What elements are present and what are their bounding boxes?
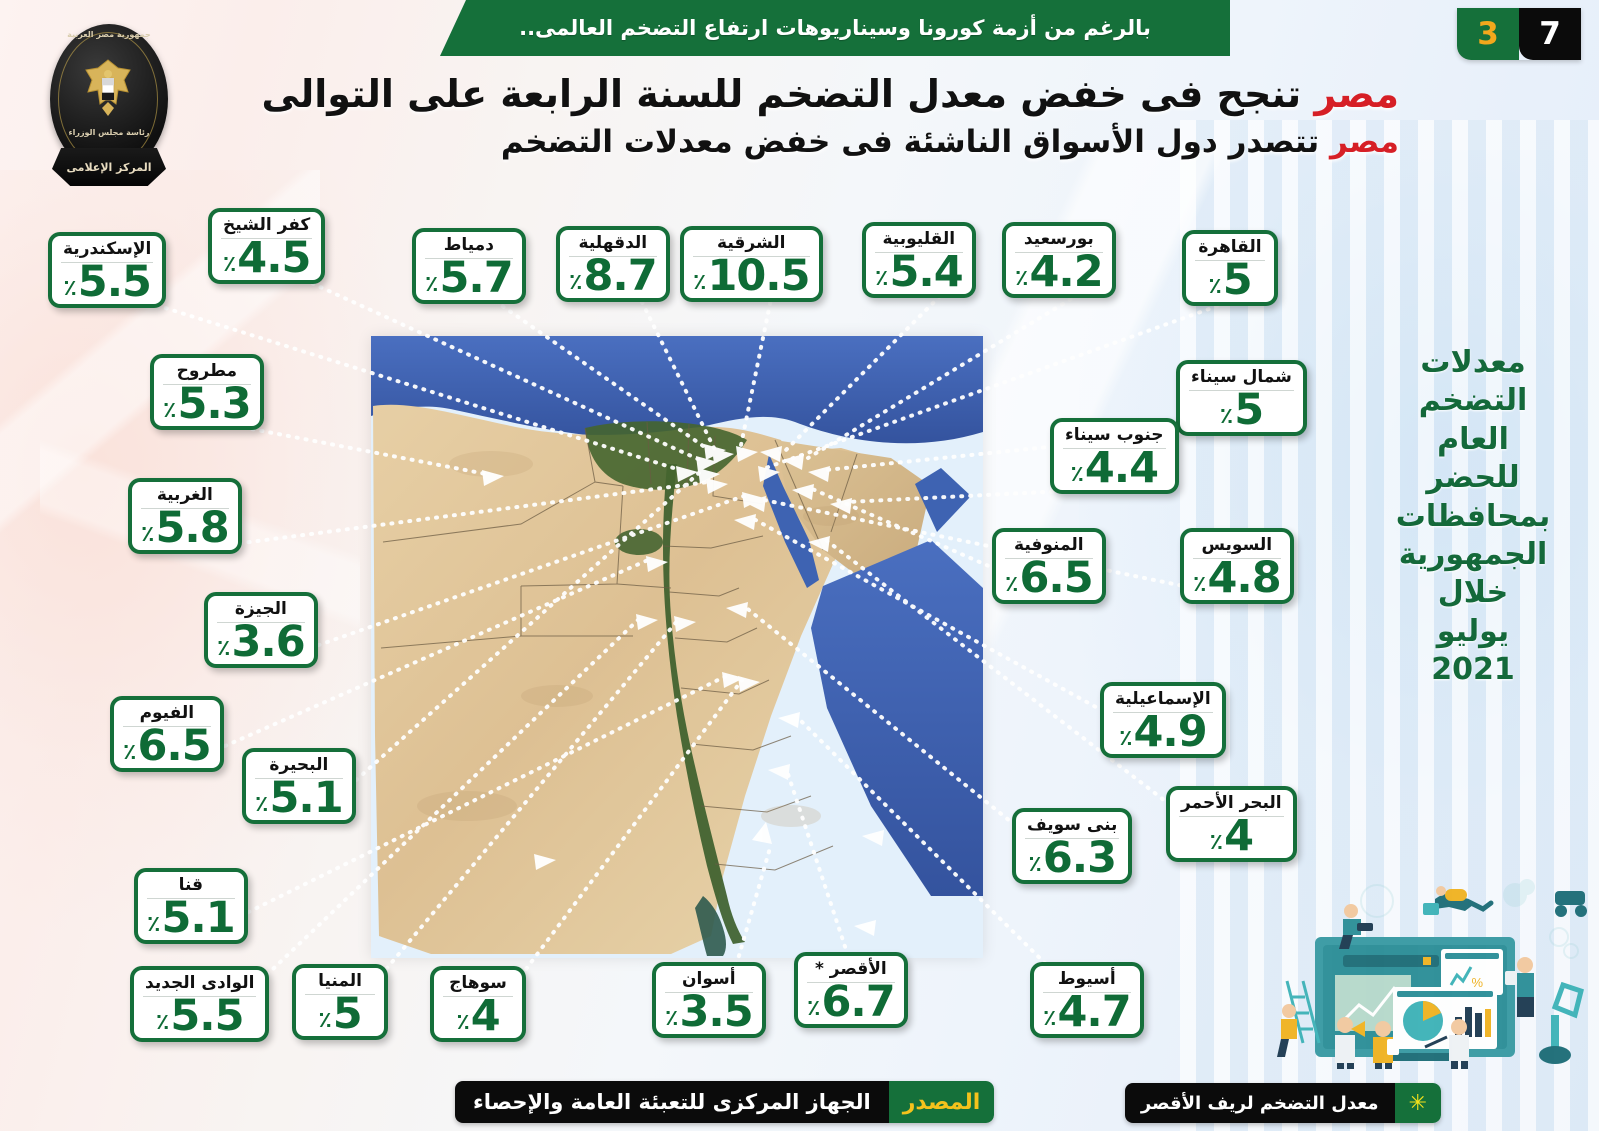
province-value: 4.4٪ bbox=[1070, 449, 1158, 489]
cart-icon bbox=[1555, 891, 1587, 917]
province-card[interactable]: أسوان3.5٪ bbox=[652, 962, 766, 1038]
infographic-root: بالرغم من أزمة كورونا وسيناريوهات ارتفاع… bbox=[0, 0, 1599, 1131]
province-card[interactable]: الجيزة3.6٪ bbox=[204, 592, 318, 668]
province-card-inner: المنيا5٪ bbox=[296, 968, 384, 1036]
percent-sign: ٪ bbox=[1015, 269, 1028, 289]
percent-sign: ٪ bbox=[1119, 729, 1132, 749]
egypt-map-graphic bbox=[371, 336, 983, 958]
sidebar-line: خلال bbox=[1373, 574, 1573, 612]
sidebar-line: معدلات bbox=[1373, 344, 1573, 382]
asterisk-icon: ✳ bbox=[1395, 1083, 1441, 1123]
province-card[interactable]: الإسكندرية5.5٪ bbox=[48, 232, 166, 308]
province-card-inner: الشرقية10.5٪ bbox=[684, 230, 819, 298]
province-card[interactable]: الدقهلية8.7٪ bbox=[556, 226, 670, 302]
province-value-number: 8.7 bbox=[583, 257, 656, 297]
province-card-inner: الفيوم6.5٪ bbox=[114, 700, 220, 768]
province-value: 5٪ bbox=[318, 995, 361, 1035]
province-value: 5.8٪ bbox=[141, 509, 229, 549]
government-logo: جمهورية مصر العربية رئاسة مجلس الوزراء ا… bbox=[30, 16, 190, 186]
percent-sign: ٪ bbox=[693, 273, 706, 293]
percent-sign: ٪ bbox=[425, 275, 438, 295]
sidebar-line: العام bbox=[1373, 421, 1573, 459]
province-card[interactable]: الوادى الجديد5.5٪ bbox=[130, 966, 269, 1042]
province-value-number: 5.7 bbox=[439, 259, 512, 299]
percent-sign: ٪ bbox=[1070, 465, 1083, 485]
percent-sign: ٪ bbox=[163, 401, 176, 421]
sidebar-line: الجمهورية bbox=[1373, 536, 1573, 574]
percent-sign: ٪ bbox=[318, 1011, 331, 1031]
province-card[interactable]: قنا5.1٪ bbox=[134, 868, 248, 944]
province-card[interactable]: شمال سيناء5٪ bbox=[1176, 360, 1307, 436]
province-card-inner: المنوفية6.5٪ bbox=[996, 532, 1102, 600]
province-value-number: 3.5 bbox=[679, 993, 752, 1033]
sidebar-line: للحضر bbox=[1373, 459, 1573, 497]
title-line-two-rest: تتصدر دول الأسواق الناشئة فى خفض معدلات … bbox=[501, 124, 1330, 160]
province-card-inner: الغربية5.8٪ bbox=[132, 482, 238, 550]
province-card-inner: الإسكندرية5.5٪ bbox=[52, 236, 162, 304]
province-card-inner: الجيزة3.6٪ bbox=[208, 596, 314, 664]
province-card[interactable]: الشرقية10.5٪ bbox=[680, 226, 823, 302]
robot-arm-icon bbox=[1539, 985, 1581, 1064]
header-banner-text: بالرغم من أزمة كورونا وسيناريوهات ارتفاع… bbox=[519, 16, 1151, 40]
province-value-number: 4.5 bbox=[237, 239, 310, 279]
province-value: 5.5٪ bbox=[156, 997, 244, 1037]
province-card-inner: القاهرة5٪ bbox=[1186, 234, 1274, 302]
sidebar-line: يوليو bbox=[1373, 613, 1573, 651]
province-value: 5.1٪ bbox=[147, 899, 235, 939]
province-value: 5.7٪ bbox=[425, 259, 513, 299]
province-card[interactable]: بورسعيد4.2٪ bbox=[1002, 222, 1116, 298]
percent-sign: ٪ bbox=[1043, 1009, 1056, 1029]
province-value-number: 4.2 bbox=[1029, 253, 1102, 293]
province-value: 3.6٪ bbox=[217, 623, 305, 663]
province-card-inner: كفر الشيخ4.5٪ bbox=[212, 212, 321, 280]
province-card-inner: قنا5.1٪ bbox=[138, 872, 244, 940]
page-badges: 7 3 bbox=[1457, 8, 1581, 60]
percent-sign: ٪ bbox=[875, 269, 888, 289]
province-value-number: 4.4 bbox=[1085, 449, 1158, 489]
province-card[interactable]: مطروح5.3٪ bbox=[150, 354, 264, 430]
province-value: 6.5٪ bbox=[123, 727, 211, 767]
province-card[interactable]: الإسماعيلية4.9٪ bbox=[1100, 682, 1226, 758]
province-value-number: 4 bbox=[1224, 817, 1253, 857]
province-value-number: 10.5 bbox=[707, 257, 809, 297]
province-value: 5٪ bbox=[1208, 261, 1251, 301]
logo-ribbon-text: المركز الإعلامى bbox=[67, 161, 152, 174]
province-value: 5.4٪ bbox=[875, 253, 963, 293]
province-value: 6.7٪ bbox=[807, 983, 895, 1023]
sidebar-line: 2021 bbox=[1373, 651, 1573, 689]
province-card-inner: جنوب سيناء4.4٪ bbox=[1054, 422, 1175, 490]
province-value-number: 6.7 bbox=[821, 983, 894, 1023]
percent-sign: ٪ bbox=[569, 273, 582, 293]
province-value-number: 6.5 bbox=[1019, 559, 1092, 599]
percent-sign: ٪ bbox=[1220, 407, 1233, 427]
footnote: ✳ معدل التضخم لريف الأقصر bbox=[1125, 1083, 1441, 1123]
province-card-inner: أسوان3.5٪ bbox=[656, 966, 762, 1034]
province-value: 8.7٪ bbox=[569, 257, 657, 297]
province-card-inner: الإسماعيلية4.9٪ bbox=[1104, 686, 1222, 754]
province-card-inner: بنى سويف6.3٪ bbox=[1016, 812, 1128, 880]
province-card[interactable]: أسيوط4.7٪ bbox=[1030, 962, 1144, 1038]
province-card-inner: سوهاج4٪ bbox=[434, 970, 522, 1038]
footnote-text: معدل التضخم لريف الأقصر bbox=[1125, 1083, 1395, 1123]
total-number-badge: 3 bbox=[1457, 8, 1519, 60]
province-card[interactable]: القاهرة5٪ bbox=[1182, 230, 1278, 306]
percent-sign: ٪ bbox=[1210, 833, 1223, 853]
province-card-inner: القليوبية5.4٪ bbox=[866, 226, 972, 294]
province-card-inner: البحيرة5.1٪ bbox=[246, 752, 352, 820]
percent-sign: ٪ bbox=[63, 279, 76, 299]
province-value: 5.5٪ bbox=[63, 263, 151, 303]
province-card[interactable]: المنيا5٪ bbox=[292, 964, 388, 1040]
province-value: 4٪ bbox=[1210, 817, 1253, 857]
province-card[interactable]: المنوفية6.5٪ bbox=[992, 528, 1106, 604]
province-card-inner: دمياط5.7٪ bbox=[416, 232, 522, 300]
source-label: المصدر bbox=[889, 1081, 995, 1123]
percent-sign: ٪ bbox=[217, 639, 230, 659]
province-value-number: 4.9 bbox=[1134, 713, 1207, 753]
province-card-inner: بورسعيد4.2٪ bbox=[1006, 226, 1112, 294]
province-value: 4.2٪ bbox=[1015, 253, 1103, 293]
sidebar-line: بمحافظات bbox=[1373, 498, 1573, 536]
percent-sign: ٪ bbox=[223, 255, 236, 275]
title-line-two: مصر تتصدر دول الأسواق الناشئة فى خفض معد… bbox=[219, 122, 1399, 164]
province-value: 5.1٪ bbox=[255, 779, 343, 819]
title-line-one-rest: تنجح فى خفض معدل التضخم للسنة الرابعة عل… bbox=[262, 72, 1315, 116]
province-value: 5.3٪ bbox=[163, 385, 251, 425]
province-value-number: 5 bbox=[1234, 391, 1263, 431]
title-line-one-highlight: مصر bbox=[1314, 72, 1399, 116]
province-value-number: 6.5 bbox=[137, 727, 210, 767]
percent-sign: ٪ bbox=[1028, 855, 1041, 875]
province-card[interactable]: جنوب سيناء4.4٪ bbox=[1050, 418, 1179, 494]
province-value: 4.9٪ bbox=[1119, 713, 1207, 753]
province-value-number: 5 bbox=[333, 995, 362, 1035]
percent-sign: ٪ bbox=[1005, 575, 1018, 595]
province-value-number: 5 bbox=[1223, 261, 1252, 301]
province-value-number: 4.8 bbox=[1207, 559, 1280, 599]
percent-sign: ٪ bbox=[1193, 575, 1206, 595]
province-value-number: 5.5 bbox=[78, 263, 151, 303]
province-value: 5٪ bbox=[1220, 391, 1263, 431]
person-ladder-icon bbox=[1277, 981, 1319, 1057]
province-card-inner: أسيوط4.7٪ bbox=[1034, 966, 1140, 1034]
percent-sign: ٪ bbox=[1208, 277, 1221, 297]
title-block: مصر تنجح فى خفض معدل التضخم للسنة الرابع… bbox=[219, 72, 1399, 163]
percent-sign: ٪ bbox=[147, 915, 160, 935]
province-card[interactable]: البحيرة5.1٪ bbox=[242, 748, 356, 824]
province-value-number: 3.6 bbox=[231, 623, 304, 663]
province-card[interactable]: السويس4.8٪ bbox=[1180, 528, 1294, 604]
eagle-of-saladin-icon bbox=[78, 56, 138, 128]
logo-top-text: جمهورية مصر العربية bbox=[54, 30, 164, 39]
province-value-number: 5.4 bbox=[889, 253, 962, 293]
sidebar-line: التضخم bbox=[1373, 382, 1573, 420]
province-card-inner: الأقصر *6.7٪ bbox=[798, 956, 904, 1024]
province-card[interactable]: القليوبية5.4٪ bbox=[862, 222, 976, 298]
logo-middle-text: رئاسة مجلس الوزراء bbox=[54, 128, 164, 137]
flying-person-icon bbox=[1423, 886, 1491, 915]
source-text: الجهاز المركزى للتعبئة العامة والإحصاء bbox=[455, 1081, 889, 1123]
province-card[interactable]: الفيوم6.5٪ bbox=[110, 696, 224, 772]
header-banner: بالرغم من أزمة كورونا وسيناريوهات ارتفاع… bbox=[440, 0, 1230, 56]
source-footer: المصدر الجهاز المركزى للتعبئة العامة وال… bbox=[455, 1081, 994, 1123]
province-value: 4٪ bbox=[456, 997, 499, 1037]
percent-sign: ٪ bbox=[665, 1009, 678, 1029]
province-value-number: 4.7 bbox=[1057, 993, 1130, 1033]
province-value-number: 5.5 bbox=[170, 997, 243, 1037]
province-value: 6.3٪ bbox=[1028, 839, 1116, 879]
page-number-badge: 7 bbox=[1519, 8, 1581, 60]
province-value-number: 4 bbox=[471, 997, 500, 1037]
percent-sign: ٪ bbox=[123, 743, 136, 763]
percent-sign: ٪ bbox=[156, 1013, 169, 1033]
title-line-one: مصر تنجح فى خفض معدل التضخم للسنة الرابع… bbox=[219, 72, 1399, 118]
province-value: 4.8٪ bbox=[1193, 559, 1281, 599]
province-card[interactable]: بنى سويف6.3٪ bbox=[1012, 808, 1132, 884]
province-card[interactable]: كفر الشيخ4.5٪ bbox=[208, 208, 325, 284]
business-analytics-illustration: % bbox=[1259, 839, 1589, 1069]
province-card[interactable]: الأقصر *6.7٪ bbox=[794, 952, 908, 1028]
province-card-inner: السويس4.8٪ bbox=[1184, 532, 1290, 600]
title-line-two-highlight: مصر bbox=[1330, 124, 1399, 160]
province-value-number: 5.3 bbox=[177, 385, 250, 425]
province-card[interactable]: سوهاج4٪ bbox=[430, 966, 526, 1042]
province-value: 6.5٪ bbox=[1005, 559, 1093, 599]
egypt-satellite-map bbox=[371, 336, 983, 958]
province-value-number: 6.3 bbox=[1043, 839, 1116, 879]
province-card[interactable]: دمياط5.7٪ bbox=[412, 228, 526, 304]
percent-sign: ٪ bbox=[807, 999, 820, 1019]
sidebar-caption: معدلات التضخم العام للحضر بمحافظات الجمه… bbox=[1373, 344, 1573, 690]
logo-ribbon: المركز الإعلامى bbox=[52, 148, 166, 186]
province-value-number: 5.8 bbox=[155, 509, 228, 549]
province-value: 10.5٪ bbox=[693, 257, 810, 297]
province-card-inner: مطروح5.3٪ bbox=[154, 358, 260, 426]
province-card[interactable]: الغربية5.8٪ bbox=[128, 478, 242, 554]
province-value-number: 5.1 bbox=[161, 899, 234, 939]
province-value: 4.5٪ bbox=[223, 239, 311, 279]
province-value-number: 5.1 bbox=[269, 779, 342, 819]
province-card-inner: شمال سيناء5٪ bbox=[1180, 364, 1303, 432]
percent-sign: ٪ bbox=[456, 1013, 469, 1033]
percent-sign: ٪ bbox=[255, 795, 268, 815]
province-value: 4.7٪ bbox=[1043, 993, 1131, 1033]
province-card-inner: الدقهلية8.7٪ bbox=[560, 230, 666, 298]
province-card-inner: الوادى الجديد5.5٪ bbox=[134, 970, 265, 1038]
percent-sign: ٪ bbox=[141, 525, 154, 545]
province-value: 3.5٪ bbox=[665, 993, 753, 1033]
